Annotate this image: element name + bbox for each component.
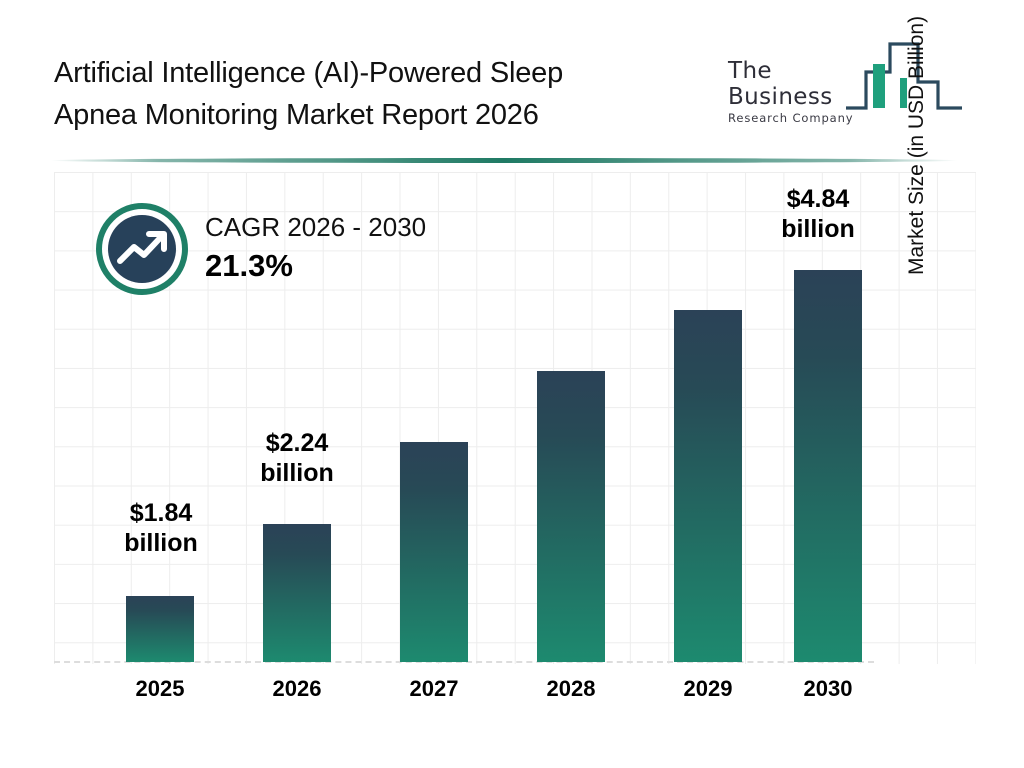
bar-2028[interactable] [537, 371, 605, 662]
x-axis-labels: 2025 2026 2027 2028 2029 2030 [54, 676, 876, 706]
x-axis-label-2025: 2025 [105, 676, 215, 702]
bar-value-amount-2025: $1.84 [96, 498, 226, 528]
cagr-text-block: CAGR 2026 - 2030 21.3% [205, 210, 426, 286]
bar-value-unit-2025: billion [96, 528, 226, 558]
bar-value-unit-2030: billion [753, 214, 883, 244]
trending-up-arrow-icon [96, 203, 188, 295]
x-axis-label-2028: 2028 [516, 676, 626, 702]
bar-value-unit-2026: billion [232, 458, 362, 488]
x-axis-label-2030: 2030 [773, 676, 883, 702]
bar-chart-outline-icon [844, 32, 964, 129]
bar-2029[interactable] [674, 310, 742, 662]
company-logo: The Business Research Company [718, 32, 968, 132]
bar-value-label-2025: $1.84 billion [96, 498, 226, 558]
cagr-period-label: CAGR 2026 - 2030 [205, 210, 426, 244]
page-title-line1: Artificial Intelligence (AI)-Powered Sle… [54, 52, 694, 94]
cagr-badge: CAGR 2026 - 2030 21.3% [96, 203, 496, 299]
bar-2025[interactable] [126, 596, 194, 662]
bar-2026[interactable] [263, 524, 331, 662]
bar-2030[interactable] [794, 270, 862, 662]
page-title-line2: Apnea Monitoring Market Report 2026 [54, 94, 694, 136]
x-axis-label-2026: 2026 [242, 676, 352, 702]
bar-value-amount-2030: $4.84 [753, 184, 883, 214]
x-axis-label-2027: 2027 [379, 676, 489, 702]
header-divider [50, 158, 958, 163]
bar-value-label-2030: $4.84 billion [753, 184, 883, 244]
bar-value-label-2026: $2.24 billion [232, 428, 362, 488]
chart-page: Artificial Intelligence (AI)-Powered Sle… [0, 0, 1024, 768]
y-axis-title: Market Size (in USD Billion) [905, 0, 929, 275]
cagr-value-label: 21.3% [205, 246, 426, 286]
page-title: Artificial Intelligence (AI)-Powered Sle… [54, 52, 694, 136]
x-axis-label-2029: 2029 [653, 676, 763, 702]
bar-2027[interactable] [400, 442, 468, 662]
bar-value-amount-2026: $2.24 [232, 428, 362, 458]
